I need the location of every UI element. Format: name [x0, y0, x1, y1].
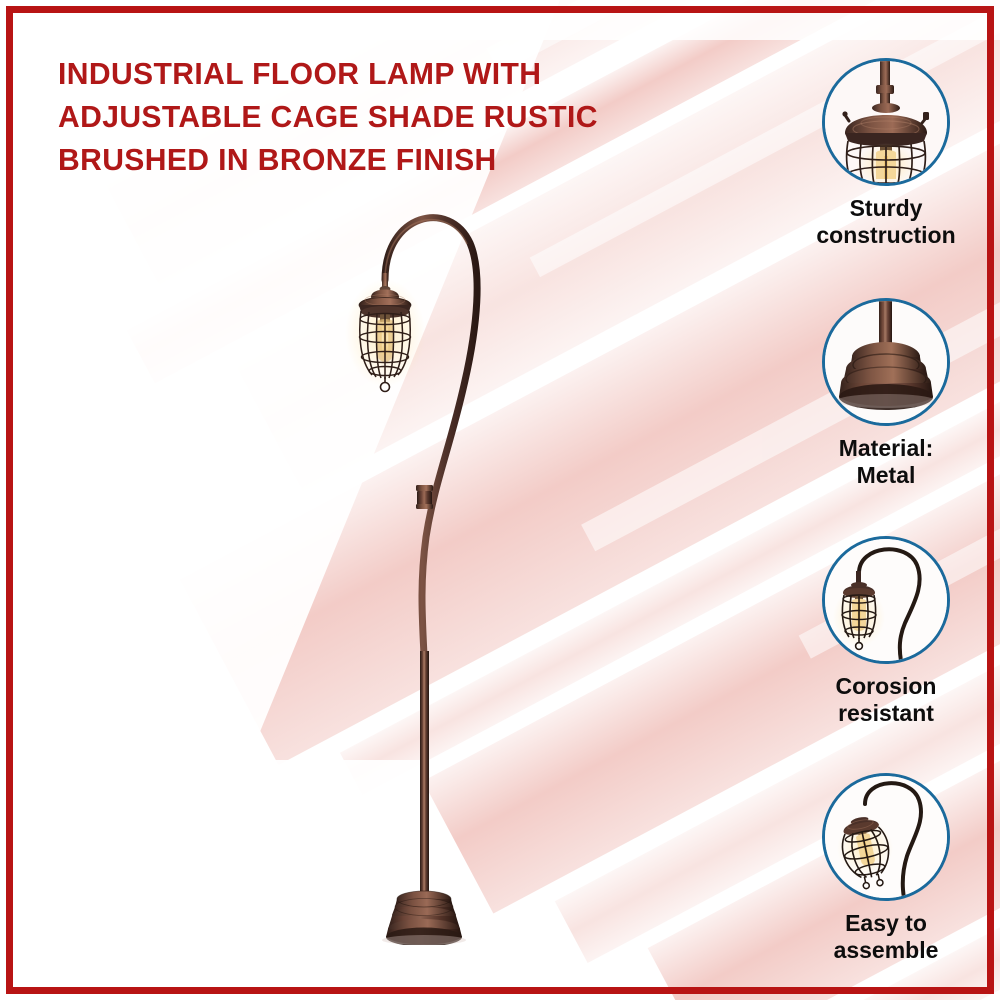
cage-wires	[360, 311, 410, 379]
feature-label-line-2: Metal	[796, 462, 976, 489]
feature-list: Sturdy construction	[796, 58, 976, 988]
product-marketing-image: INDUSTRIAL FLOOR LAMP WITH ADJUSTABLE CA…	[0, 0, 1000, 1000]
feature-label-line-1: Easy to	[796, 910, 976, 937]
lamp-base	[382, 891, 466, 945]
feature-label: Easy to assemble	[796, 910, 976, 964]
feature-corrosion-resistant[interactable]: Corosion resistant	[796, 536, 976, 727]
feature-label-line-2: assemble	[796, 937, 976, 964]
pole-joint	[416, 485, 433, 509]
lamp-shade-top-icon	[822, 58, 950, 186]
cage-lamp-angled-icon	[822, 773, 950, 901]
feature-material-metal[interactable]: Material: Metal	[796, 298, 976, 489]
feature-label-line-2: construction	[796, 222, 976, 249]
feature-sturdy-construction[interactable]: Sturdy construction	[796, 58, 976, 249]
feature-label: Material: Metal	[796, 435, 976, 489]
feature-label-line-1: Material:	[796, 435, 976, 462]
feature-label: Sturdy construction	[796, 195, 976, 249]
cage-lamp-gooseneck-icon	[822, 536, 950, 664]
page-title: INDUSTRIAL FLOOR LAMP WITH ADJUSTABLE CA…	[58, 52, 718, 181]
floor-lamp-illustration	[330, 185, 520, 945]
title-line-3: BRUSHED IN BRONZE FINISH	[58, 138, 718, 181]
feature-easy-to-assemble[interactable]: Easy to assemble	[796, 773, 976, 964]
feature-label-line-2: resistant	[796, 700, 976, 727]
feature-label-line-1: Sturdy	[796, 195, 976, 222]
feature-label: Corosion resistant	[796, 673, 976, 727]
lamp-base-icon	[822, 298, 950, 426]
lamp-head	[345, 273, 425, 392]
feature-label-line-1: Corosion	[796, 673, 976, 700]
title-line-1: INDUSTRIAL FLOOR LAMP WITH	[58, 52, 718, 95]
title-line-2: ADJUSTABLE CAGE SHADE RUSTIC	[58, 95, 718, 138]
product-image	[330, 185, 520, 945]
